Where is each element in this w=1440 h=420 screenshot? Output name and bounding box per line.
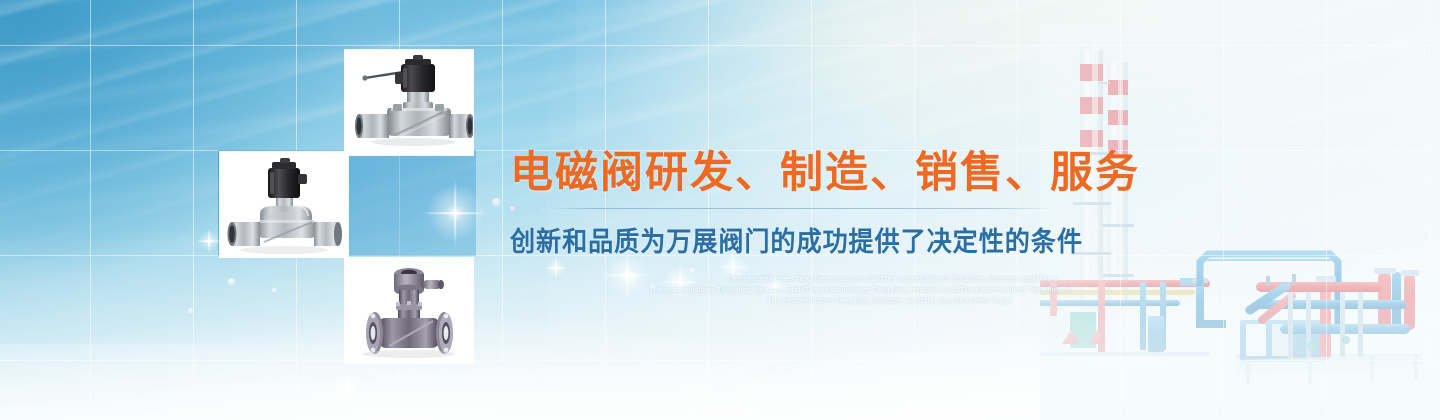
bokeh-dot (228, 278, 236, 286)
blurb-line-1: The peaceful times Teng flies, treasure … (644, 273, 1142, 284)
solenoid-valve-threaded-angled-icon (220, 152, 348, 257)
hero-banner: 电磁阀研发、制造、销售、服务 创新和品质为万展阀门的成功提供了决定性的条件 Th… (0, 0, 1440, 420)
banner-blurb: The peaceful times Teng flies, treasure … (622, 273, 1142, 306)
solenoid-valve-threaded-lever-icon (345, 50, 473, 155)
page-subtitle: 创新和品质为万展阀门的成功提供了决定性的条件 (510, 220, 1049, 259)
product-image-card[interactable] (220, 152, 348, 257)
blurb-line-2: The peaceful times Teng flies, treasure … (578, 284, 1142, 295)
product-image-card[interactable] (345, 258, 473, 363)
solenoid-valve-flanged-icon (345, 258, 473, 363)
blurb-line-3: The peaceful times Teng flies, treasure … (638, 295, 1142, 306)
product-image-card[interactable] (345, 50, 473, 155)
page-title: 电磁阀研发、制造、销售、服务 (510, 150, 1090, 196)
bokeh-dot (188, 308, 194, 314)
bokeh-dot (272, 288, 277, 293)
title-divider (542, 208, 1054, 209)
bokeh-dot (492, 198, 501, 207)
banner-copy: 电磁阀研发、制造、销售、服务 创新和品质为万展阀门的成功提供了决定性的条件 Th… (510, 150, 1090, 306)
